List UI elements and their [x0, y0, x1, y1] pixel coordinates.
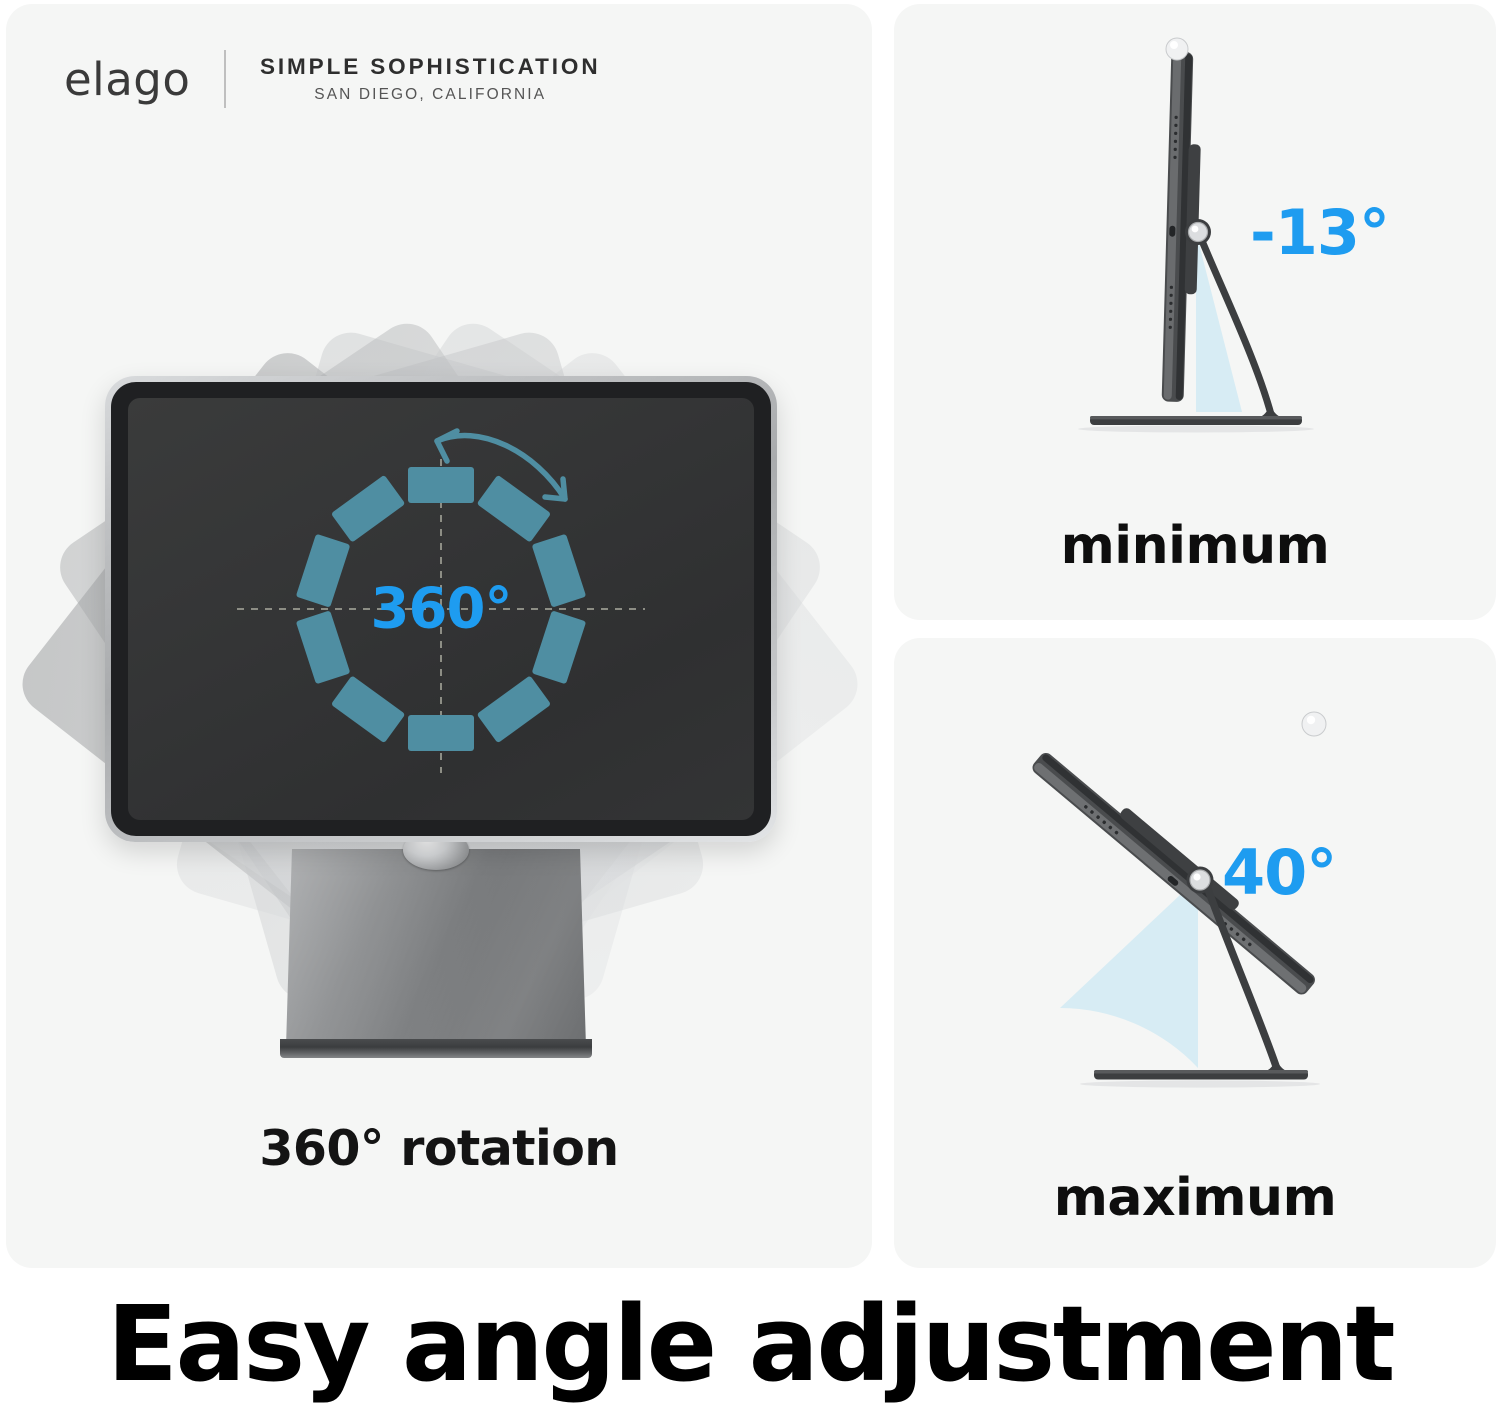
- dial-segment: [532, 610, 587, 684]
- maximum-angle-card: 40° maximum: [894, 638, 1496, 1268]
- maximum-angle-value: 40°: [1222, 836, 1336, 909]
- dial-segment: [477, 675, 552, 743]
- stand-column: [286, 849, 586, 1047]
- tablet-front-view: 360°: [105, 376, 777, 842]
- maximum-caption: maximum: [894, 1168, 1496, 1228]
- stand-foot: [280, 1039, 592, 1058]
- dial-segment: [331, 675, 406, 743]
- rotation-arrow-icon: [423, 417, 583, 537]
- tablet-screen: 360°: [128, 398, 754, 820]
- maximum-angle-scene: 40°: [894, 638, 1496, 1162]
- rotation-dial: 360°: [281, 449, 601, 769]
- stand-column-sheen: [286, 849, 586, 1047]
- minimum-angle-card: -13° minimum: [894, 4, 1496, 620]
- dial-segment: [331, 475, 406, 543]
- dial-segment: [296, 610, 351, 684]
- dial-segment: [532, 534, 587, 608]
- tablet-bezel: 360°: [111, 382, 771, 836]
- minimum-caption: minimum: [894, 516, 1496, 576]
- rotation-scene: 360°: [6, 4, 872, 1119]
- dial-segment: [296, 534, 351, 608]
- dial-segment: [408, 715, 474, 751]
- page-headline: Easy angle adjustment: [0, 1288, 1500, 1400]
- maximum-stand-illustration: [894, 638, 1496, 1162]
- minimum-stand-illustration: [894, 4, 1496, 514]
- maximum-angle-wedge: [1060, 878, 1198, 1068]
- rotation-caption: 360° rotation: [6, 1120, 872, 1177]
- rotation-card: elago SIMPLE SOPHISTICATION SAN DIEGO, C…: [6, 4, 872, 1268]
- minimum-angle-value: -13°: [1250, 196, 1389, 269]
- dial-360-label: 360°: [371, 577, 512, 642]
- minimum-angle-scene: -13°: [894, 4, 1496, 514]
